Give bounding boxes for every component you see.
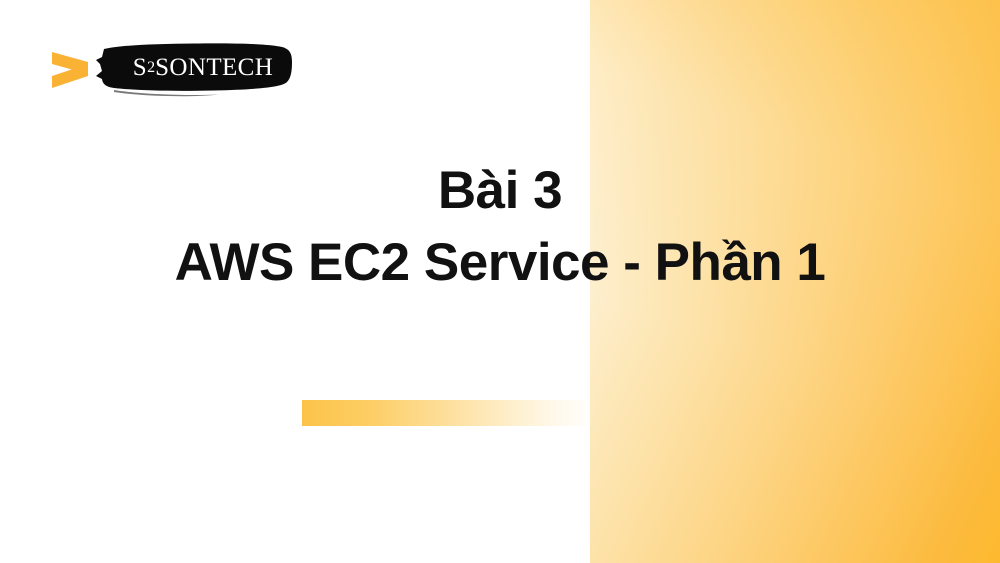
- slide-title-line-1: Bài 3: [0, 163, 1000, 219]
- logo-brush-tail: [114, 90, 219, 96]
- logo-brush-badge: [96, 43, 292, 91]
- title-block: Bài 3 AWS EC2 Service - Phần 1: [0, 163, 1000, 291]
- slide-canvas: S2SONTECH Bài 3 AWS EC2 Service - Phần 1: [0, 0, 1000, 563]
- accent-bar: [302, 400, 594, 426]
- s2sontech-logo[interactable]: S2SONTECH: [44, 38, 294, 100]
- slide-title-line-2: AWS EC2 Service - Phần 1: [0, 235, 1000, 291]
